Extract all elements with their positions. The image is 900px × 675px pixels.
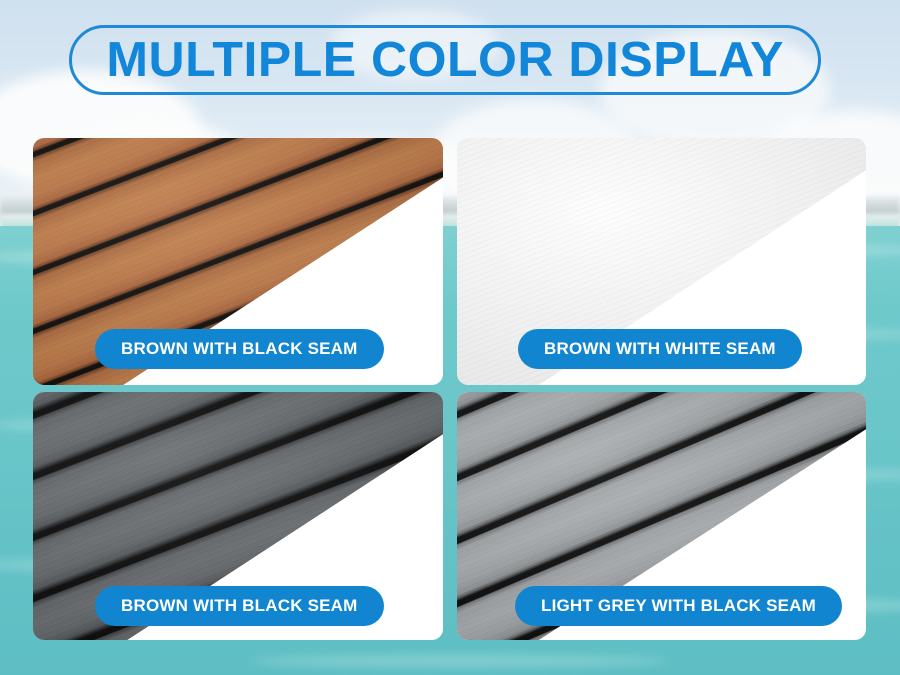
- color-label-badge-brown-black[interactable]: BROWN WITH BLACK SEAM: [95, 329, 384, 369]
- color-label-text: BROWN WITH BLACK SEAM: [121, 339, 358, 359]
- color-label-text: BROWN WITH BLACK SEAM: [121, 596, 358, 616]
- color-label-text: LIGHT GREY WITH BLACK SEAM: [541, 596, 816, 616]
- color-label-badge-brown-white[interactable]: BROWN WITH WHITE SEAM: [518, 329, 802, 369]
- color-label-badge-light-grey[interactable]: LIGHT GREY WITH BLACK SEAM: [515, 586, 842, 626]
- sea-foam: [250, 655, 670, 667]
- title-banner: MULTIPLE COLOR DISPLAY: [69, 25, 821, 95]
- page-title: MULTIPLE COLOR DISPLAY: [106, 32, 784, 88]
- color-label-text: BROWN WITH WHITE SEAM: [544, 339, 776, 359]
- color-label-badge-dark-grey[interactable]: BROWN WITH BLACK SEAM: [95, 586, 384, 626]
